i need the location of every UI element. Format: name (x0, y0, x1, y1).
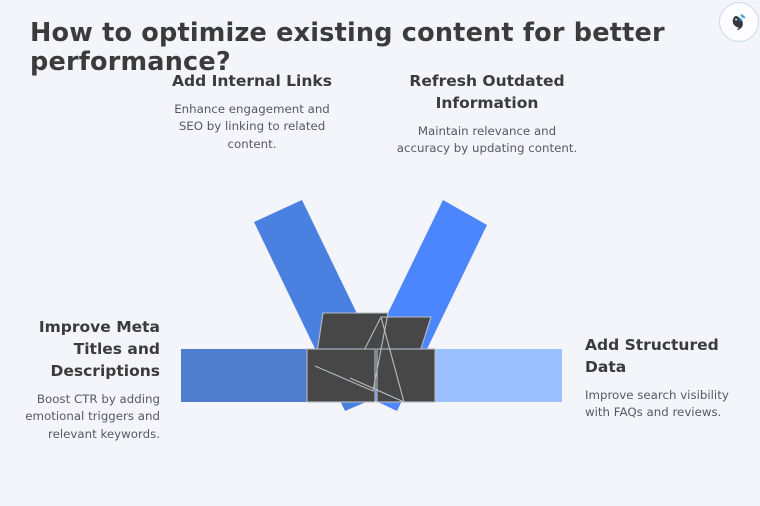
infographic-canvas: How to optimize existing content for bet… (0, 0, 760, 506)
block-add-internal-links: Add Internal Links Enhance engagement an… (162, 70, 342, 153)
block-description: Improve search visibility with FAQs and … (585, 387, 757, 422)
arm-crossing-outline-2 (350, 317, 404, 402)
block-title: Add Structured Data (585, 334, 757, 378)
dark-block-left (315, 313, 388, 391)
block-title: Add Internal Links (162, 70, 342, 92)
bar-segment-left (181, 349, 307, 402)
block-description: Enhance engagement and SEO by linking to… (162, 101, 342, 153)
brand-logo-icon (726, 9, 752, 35)
block-improve-meta-titles-and-descriptions: Improve Meta Titles and Descriptions Boo… (2, 316, 160, 443)
bar-segment-mid-right (377, 349, 435, 402)
bar-segment-mid-left (307, 349, 375, 402)
block-title: Refresh Outdated Information (392, 70, 582, 114)
block-add-structured-data: Add Structured Data Improve search visib… (585, 334, 757, 422)
block-description: Boost CTR by adding emotional triggers a… (2, 391, 160, 443)
diagonal-arm-left (254, 200, 394, 411)
dark-block-right (350, 317, 431, 402)
page-title: How to optimize existing content for bet… (30, 19, 720, 78)
block-refresh-outdated-information: Refresh Outdated Information Maintain re… (392, 70, 582, 158)
brand-logo-badge[interactable] (719, 2, 759, 42)
block-title: Improve Meta Titles and Descriptions (2, 316, 160, 382)
diagonal-arm-right (351, 200, 487, 411)
arm-crossing-outline (315, 313, 388, 391)
bar-segment-right (435, 349, 562, 402)
block-description: Maintain relevance and accuracy by updat… (392, 123, 582, 158)
